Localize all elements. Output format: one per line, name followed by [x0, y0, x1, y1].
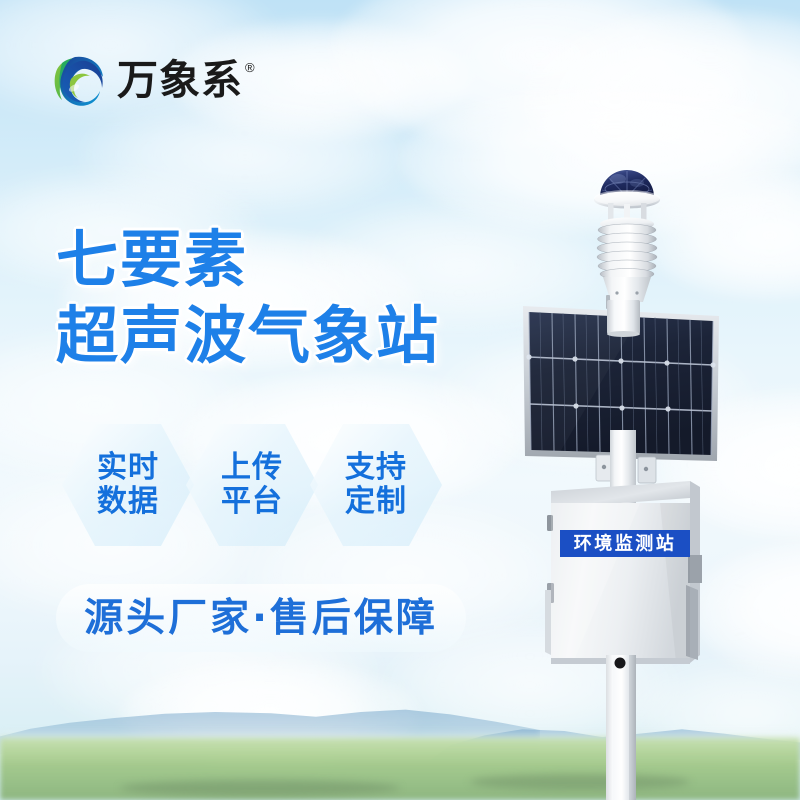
ultrasonic-wind-sensor: [594, 170, 660, 231]
registered-trademark-icon: ®: [245, 61, 255, 74]
globe-swirl-logo-icon: [48, 52, 108, 108]
feature-badge-label: 支持 定制: [345, 451, 407, 518]
landscape-layer: [0, 660, 800, 800]
tagline-text: 源头厂家·售后保障: [84, 599, 438, 638]
enclosure-label-text: 环境监测站: [574, 533, 677, 555]
brand-logo[interactable]: 万象系 ®: [48, 52, 255, 108]
feature-badge-label: 上传 平台: [221, 451, 283, 518]
brand-name: 万象系: [117, 60, 243, 101]
grassland: [0, 738, 800, 800]
feature-badge-group: 实时 数据 上传 平台 支持 定制: [62, 424, 434, 546]
feature-badge-upload-platform[interactable]: 上传 平台: [186, 424, 318, 546]
feature-badge-custom-support[interactable]: 支持 定制: [310, 424, 442, 546]
pole-port-icon: [615, 658, 626, 669]
controller-enclosure-box: 环境监测站: [545, 481, 702, 664]
headline-line-2: 超声波气象站: [56, 298, 440, 374]
headline-block: 七要素 超声波气象站: [56, 222, 440, 373]
feature-badge-label: 实时 数据: [97, 451, 159, 518]
tagline-pill: 源头厂家·售后保障: [56, 584, 466, 652]
headline-line-1: 七要素: [56, 222, 440, 298]
feature-badge-realtime-data[interactable]: 实时 数据: [62, 424, 194, 546]
promotional-poster: 环境监测站: [0, 0, 800, 800]
